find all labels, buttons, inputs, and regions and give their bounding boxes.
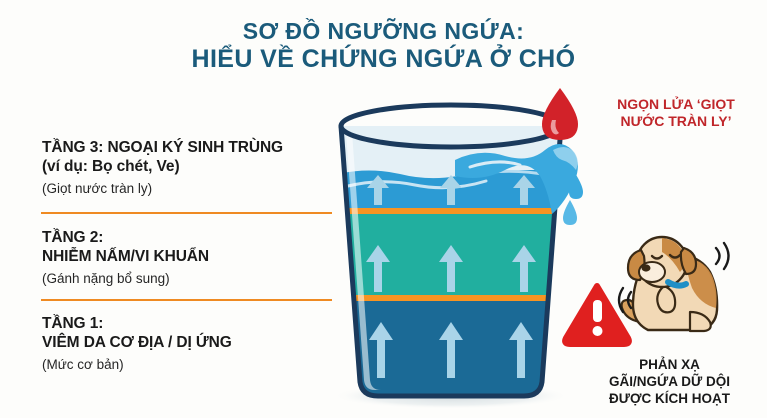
up-arrow-icon — [369, 322, 393, 378]
arrow-group-tier-3 — [367, 175, 535, 205]
water-splash-icon — [455, 144, 583, 225]
tier-1-headline-2: VIÊM DA CƠ ĐỊA / DỊ ỨNG — [42, 333, 342, 352]
flame-label: NGỌN LỬA ‘GIỌT NƯỚC TRÀN LY’ — [588, 96, 764, 131]
reflex-label-line-2: GÃI/NGỨA DỮ DỘI — [572, 374, 767, 391]
reflex-label-line-1: PHẢN XẠ — [572, 357, 767, 374]
glass-body — [341, 126, 561, 396]
tier-2-headline-2: NHIỄM NẤM/VI KHUẨN — [42, 247, 342, 266]
tier-1-headline-1: TẦNG 1: — [42, 314, 342, 333]
water-surface-highlight-2 — [470, 171, 548, 176]
glass-shadow — [333, 383, 569, 409]
arrow-group-tier-1 — [369, 322, 533, 378]
title-line-1: SƠ ĐỒ NGƯỠNG NGỨA: — [0, 18, 767, 45]
infographic-canvas: SƠ ĐỒ NGƯỠNG NGỨA: HIỂU VỀ CHỨNG NGỨA Ở … — [0, 0, 767, 418]
up-arrow-icon — [513, 175, 535, 205]
tier-3-text-block: TẦNG 3: NGOẠI KÝ SINH TRÙNG (ví dụ: Bọ c… — [42, 138, 342, 197]
red-drop-icon — [542, 88, 578, 140]
tier-1-text-block: TẦNG 1: VIÊM DA CƠ ĐỊA / DỊ ỨNG (Mức cơ … — [42, 314, 342, 373]
up-arrow-icon — [512, 245, 536, 292]
layer-separator-lower — [330, 294, 580, 301]
title-line-2: HIỂU VỀ CHỨNG NGỨA Ở CHÓ — [0, 45, 767, 75]
scratching-dog-icon — [619, 237, 729, 331]
water-layer-tier-1 — [330, 300, 580, 410]
reflex-label-line-3: ĐƯỢC KÍCH HOẠT — [572, 391, 767, 408]
flame-label-line-2: NƯỚC TRÀN LY’ — [588, 113, 764, 130]
water-surface-highlight-1 — [348, 181, 486, 188]
up-arrow-icon — [509, 322, 533, 378]
water-layer-tier-2 — [330, 213, 580, 295]
glass-rim — [341, 105, 561, 147]
tier-3-headline-2: (ví dụ: Bọ chét, Ve) — [42, 157, 342, 176]
flame-label-line-1: NGỌN LỬA ‘GIỌT — [588, 96, 764, 113]
up-arrow-icon — [366, 245, 390, 292]
arrow-group-tier-2 — [366, 245, 536, 292]
glass-inner-highlight — [346, 132, 381, 390]
tier-1-subtext: (Mức cơ bản) — [42, 356, 342, 374]
glass-outline — [341, 126, 561, 396]
tier-2-headline-1: TẦNG 2: — [42, 228, 342, 247]
tier-divider-lower — [41, 299, 332, 301]
warning-triangle-icon — [565, 286, 629, 344]
water-layer-tier-3 — [330, 170, 580, 208]
tier-3-headline-1: TẦNG 3: NGOẠI KÝ SINH TRÙNG — [42, 138, 342, 157]
water-surface — [330, 130, 580, 178]
tier-divider-upper — [41, 212, 332, 214]
tier-2-text-block: TẦNG 2: NHIỄM NẤM/VI KHUẨN (Gánh nặng bổ… — [42, 228, 342, 287]
up-arrow-icon — [439, 245, 463, 292]
tier-3-subtext: (Giọt nước tràn ly) — [42, 180, 342, 198]
up-arrow-icon — [367, 175, 389, 205]
reflex-label: PHẢN XẠ GÃI/NGỨA DỮ DỘI ĐƯỢC KÍCH HOẠT — [572, 357, 767, 408]
water-layers — [330, 130, 580, 410]
layer-separator-upper — [330, 207, 580, 214]
tier-2-subtext: (Gánh nặng bổ sung) — [42, 270, 342, 288]
up-arrow-icon — [439, 322, 463, 378]
page-title: SƠ ĐỒ NGƯỠNG NGỨA: HIỂU VỀ CHỨNG NGỨA Ở … — [0, 18, 767, 75]
up-arrow-icon — [440, 175, 462, 205]
